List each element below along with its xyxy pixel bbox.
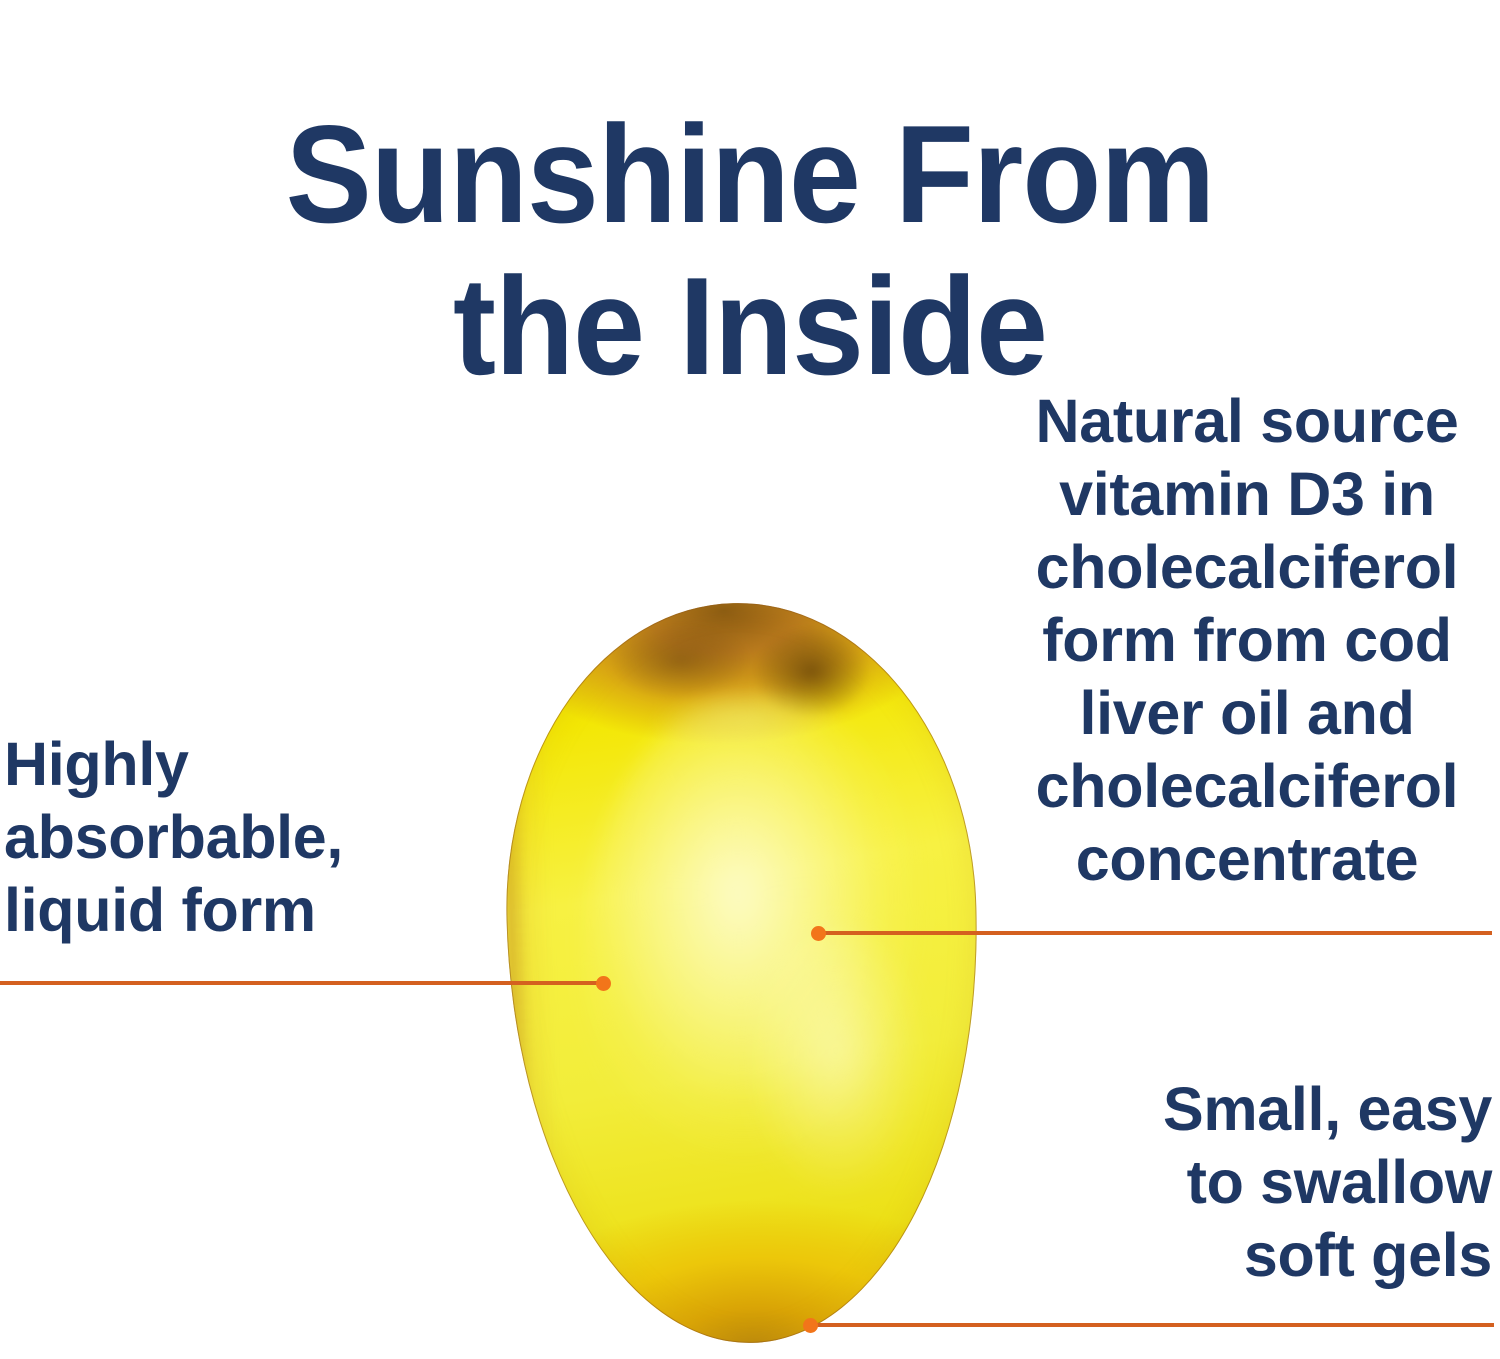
capsule-gloss bbox=[751, 924, 928, 1224]
callout-natural-source-vitamin-d3: Natural source vitamin D3 in cholecalcif… bbox=[1002, 385, 1492, 896]
leader-dot-left bbox=[596, 976, 611, 991]
leader-dot-right bbox=[811, 926, 826, 941]
leader-dot-bottom bbox=[803, 1318, 818, 1333]
leader-line-right bbox=[818, 931, 1492, 935]
infographic-page: Sunshine From the Inside Highly absorbab… bbox=[0, 0, 1500, 1359]
callout-small-easy-to-swallow: Small, easy to swallow soft gels bbox=[1072, 1073, 1492, 1292]
leader-line-left bbox=[0, 981, 604, 985]
leader-line-bottom bbox=[810, 1323, 1494, 1327]
callout-highly-absorbable: Highly absorbable, liquid form bbox=[4, 728, 424, 947]
page-title: Sunshine From the Inside bbox=[53, 99, 1448, 403]
softgel-capsule-image bbox=[498, 597, 987, 1349]
capsule-left-edge bbox=[500, 652, 564, 1304]
